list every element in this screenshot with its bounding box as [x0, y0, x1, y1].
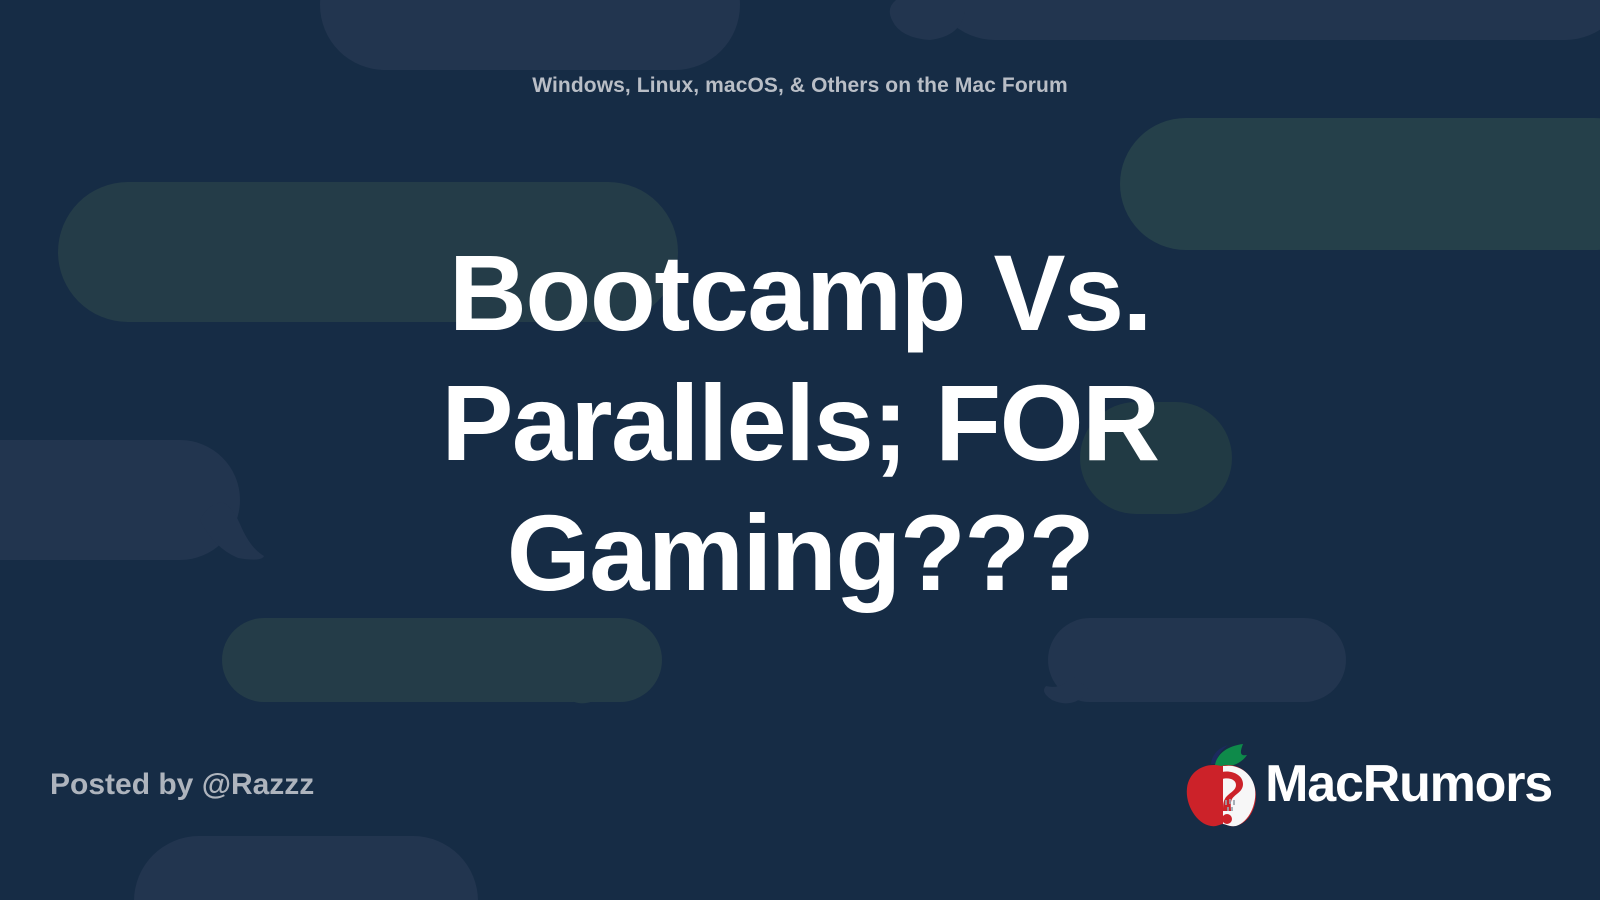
- thread-title: Bootcamp Vs. Parallels; FOR Gaming???: [0, 228, 1600, 618]
- macrumors-logo: MacRumors: [1181, 742, 1552, 828]
- macrumors-wordmark: MacRumors: [1265, 758, 1552, 810]
- share-card: Windows, Linux, macOS, & Others on the M…: [0, 0, 1600, 900]
- macrumors-apple-question-mark-icon: [1181, 742, 1261, 828]
- author-byline: Posted by @Razzz: [50, 768, 314, 802]
- forum-breadcrumb: Windows, Linux, macOS, & Others on the M…: [0, 74, 1600, 98]
- card-content: Windows, Linux, macOS, & Others on the M…: [0, 0, 1600, 900]
